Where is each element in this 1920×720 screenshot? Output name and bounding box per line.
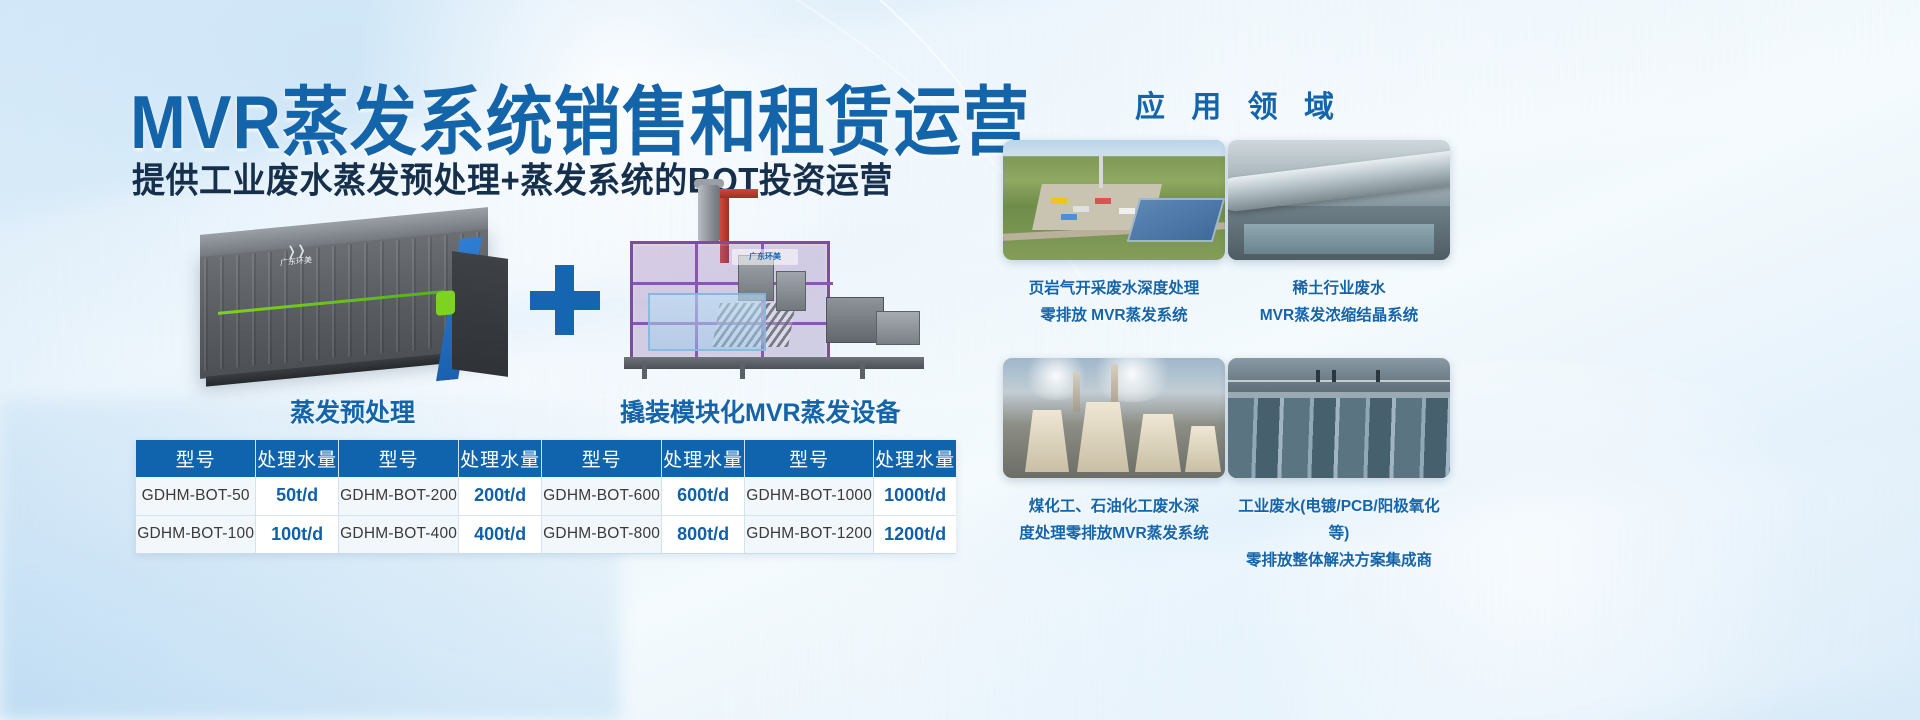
photo-detail [1376, 370, 1380, 382]
table-cell-model: GDHM-BOT-50 [136, 477, 256, 515]
pump-skid [876, 311, 920, 345]
table-cell-model: GDHM-BOT-1200 [744, 515, 873, 553]
application-caption: 工业废水(电镀/PCB/阳极氧化等) 零排放整体解决方案集成商 [1228, 493, 1450, 574]
photo-detail [1073, 372, 1080, 412]
photo-detail [1087, 358, 1177, 402]
photo-detail [1228, 149, 1450, 213]
table-cell-capacity: 200t/d [459, 477, 542, 515]
caption-line-1: 工业废水(电镀/PCB/阳极氧化等) [1228, 493, 1450, 547]
product-label-pretreatment: 蒸发预处理 [290, 393, 415, 429]
table-cell-capacity: 100t/d [256, 515, 339, 553]
caption-line-2: 度处理零排放MVR蒸发系统 [1003, 520, 1225, 547]
photo-detail [1073, 206, 1089, 212]
photo-detail [1025, 410, 1069, 472]
table-header-row: 型号 处理水量 型号 处理水量 型号 处理水量 型号 处理水量 [136, 440, 956, 477]
specification-table: 型号 处理水量 型号 处理水量 型号 处理水量 型号 处理水量 GDHM-BOT… [136, 440, 956, 554]
application-card: 稀土行业废水 MVR蒸发浓缩结晶系统 [1228, 140, 1450, 329]
skid-mounted-mvr-unit-image: 广东环美 [620, 185, 950, 400]
photo-detail [1095, 198, 1111, 204]
application-caption: 页岩气开采废水深度处理 零排放 MVR蒸发系统 [1003, 275, 1225, 329]
table-cell-model: GDHM-BOT-600 [541, 477, 661, 515]
table-header-cell: 处理水量 [256, 440, 339, 477]
container-front-face [452, 251, 508, 377]
photo-detail [1099, 156, 1103, 188]
skid-leg [642, 361, 647, 379]
application-card: 工业废水(电镀/PCB/阳极氧化等) 零排放整体解决方案集成商 [1228, 358, 1450, 574]
skid-leg [860, 361, 865, 379]
table-cell-capacity: 400t/d [459, 515, 542, 553]
application-card: 页岩气开采废水深度处理 零排放 MVR蒸发系统 [1003, 140, 1225, 329]
table-cell-capacity: 1200t/d [874, 515, 956, 553]
application-areas-title: 应 用 领 域 [1135, 82, 1343, 126]
table-header-cell: 处理水量 [662, 440, 745, 477]
clarifier-tank [648, 293, 766, 351]
skid-base [624, 357, 924, 369]
table-header-cell: 处理水量 [874, 440, 956, 477]
photo-detail [1119, 208, 1135, 214]
application-caption: 煤化工、石油化工废水深 度处理零排放MVR蒸发系统 [1003, 493, 1225, 547]
photo-detail [1051, 198, 1067, 204]
photo-detail [1061, 214, 1077, 220]
left-panel: MVR蒸发系统销售和租赁运营 提供工业废水蒸发预处理+蒸发系统的BOT投资运营 … [0, 0, 990, 720]
photo-detail [1228, 380, 1450, 382]
rare-earth-pipeline-photo [1228, 140, 1450, 260]
shale-gas-field-photo [1003, 140, 1225, 260]
table-cell-capacity: 50t/d [256, 477, 339, 515]
caption-line-2: 零排放整体解决方案集成商 [1228, 547, 1450, 574]
table-header-cell: 型号 [136, 440, 256, 477]
vapor-tank [698, 185, 720, 241]
table-cell-capacity: 800t/d [662, 515, 745, 553]
red-pipe-horizontal [720, 189, 758, 198]
table-row: GDHM-BOT-100 100t/d GDHM-BOT-400 400t/d … [136, 515, 956, 553]
photo-detail [1127, 198, 1225, 242]
application-areas-panel: 应 用 领 域 页岩气开采废水深度处理 零排放 MVR蒸发系统 稀土行业废水 M [985, 0, 1920, 720]
photo-detail [1135, 414, 1181, 472]
photo-detail [1021, 358, 1091, 400]
photo-detail [1185, 426, 1221, 472]
table-cell-model: GDHM-BOT-400 [338, 515, 458, 553]
caption-line-1: 煤化工、石油化工废水深 [1003, 493, 1225, 520]
evaporation-pretreatment-unit-image: ❭❭ 广东环美 [200, 215, 520, 390]
caption-line-2: MVR蒸发浓缩结晶系统 [1228, 302, 1450, 329]
product-showcase: ❭❭ 广东环美 广东环美 [130, 195, 960, 425]
application-caption: 稀土行业废水 MVR蒸发浓缩结晶系统 [1228, 275, 1450, 329]
plus-vertical-bar [555, 265, 574, 335]
photo-detail [1316, 370, 1320, 382]
caption-line-1: 稀土行业废水 [1228, 275, 1450, 302]
table-cell-model: GDHM-BOT-100 [136, 515, 256, 553]
skid-leg [740, 361, 745, 379]
table-header-cell: 型号 [338, 440, 458, 477]
table-header-cell: 处理水量 [459, 440, 542, 477]
photo-detail [1244, 224, 1434, 254]
product-label-skid-mvr: 撬装模块化MVR蒸发设备 [620, 393, 901, 429]
container-indicator [436, 290, 455, 316]
photo-detail [1228, 398, 1450, 478]
caption-line-1: 页岩气开采废水深度处理 [1003, 275, 1225, 302]
photo-detail [1332, 370, 1336, 382]
table-row: GDHM-BOT-50 50t/d GDHM-BOT-200 200t/d GD… [136, 477, 956, 515]
table-cell-model: GDHM-BOT-800 [541, 515, 661, 553]
coal-chemical-plant-photo [1003, 358, 1225, 478]
plus-icon [530, 265, 600, 335]
equipment-block [776, 271, 806, 311]
caption-line-2: 零排放 MVR蒸发系统 [1003, 302, 1225, 329]
photo-detail [1077, 402, 1129, 472]
application-card: 煤化工、石油化工废水深 度处理零排放MVR蒸发系统 [1003, 358, 1225, 547]
brand-badge: 广东环美 [732, 249, 798, 265]
table-cell-model: GDHM-BOT-200 [338, 477, 458, 515]
table-cell-capacity: 1000t/d [874, 477, 956, 515]
table-cell-capacity: 600t/d [662, 477, 745, 515]
table-header-cell: 型号 [744, 440, 873, 477]
table-cell-model: GDHM-BOT-1000 [744, 477, 873, 515]
table-header-cell: 型号 [541, 440, 661, 477]
industrial-wastewater-basin-photo [1228, 358, 1450, 478]
